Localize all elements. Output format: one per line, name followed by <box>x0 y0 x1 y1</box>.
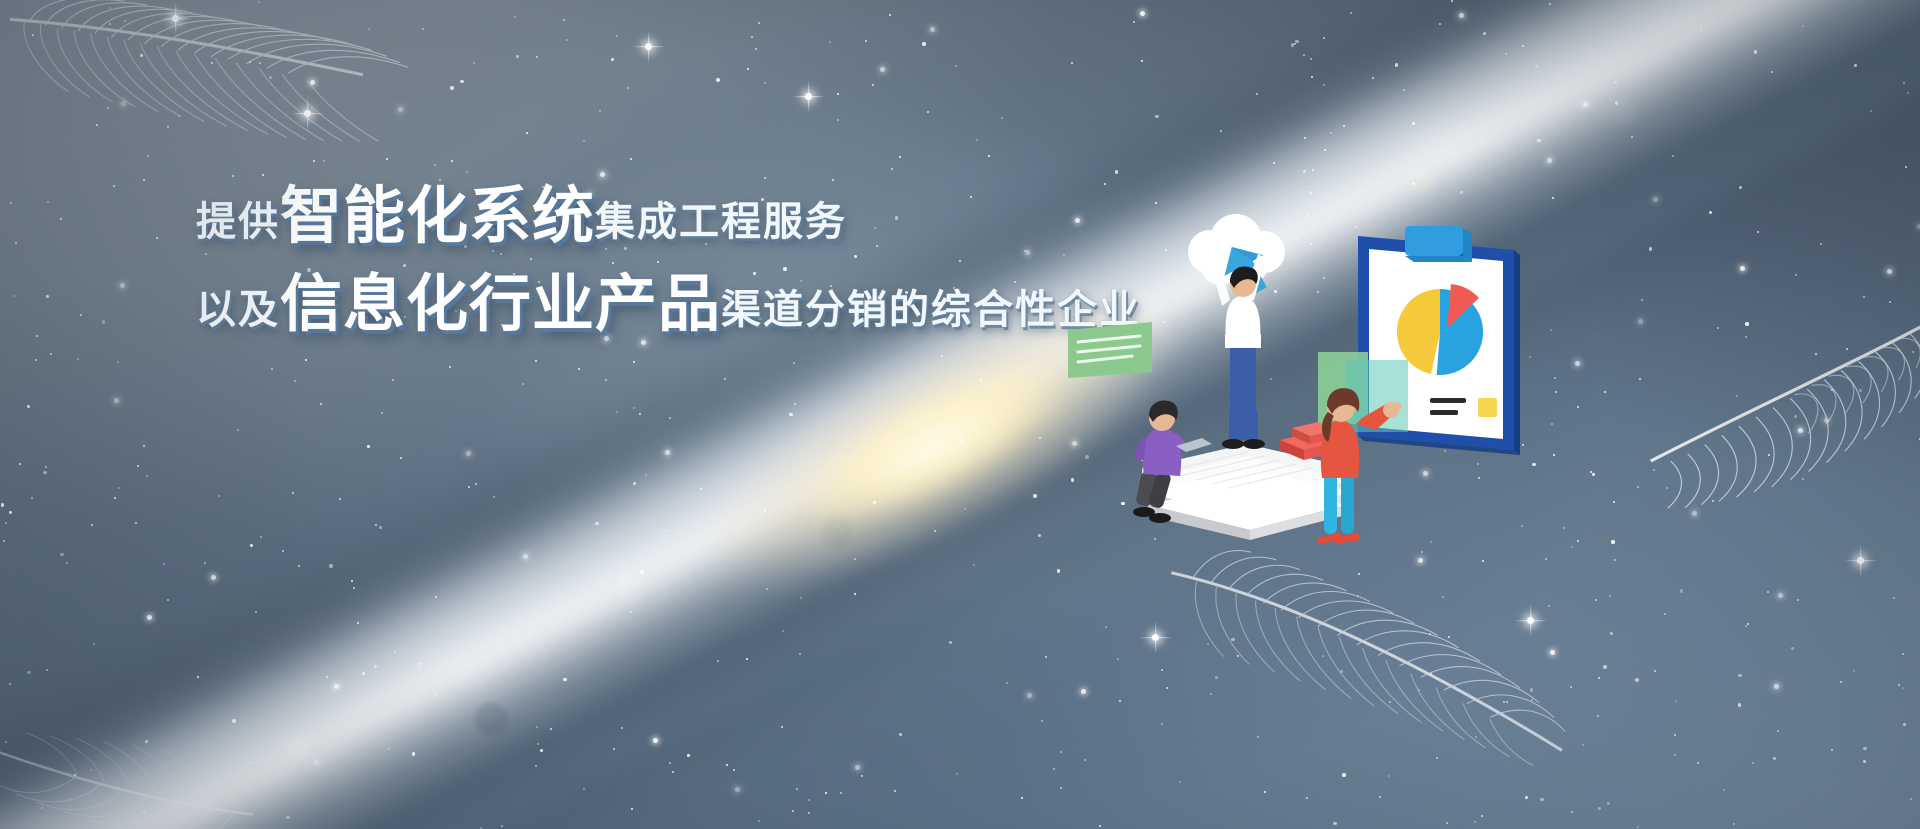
headline-line-1: 提供 智能化系统 集成工程服务 <box>196 186 1196 248</box>
headline-line-1-emphasis: 智能化系统 <box>280 186 595 248</box>
headline-line-2: 以及 信息化行业产品 渠道分销的综合性企业 <box>196 274 1196 336</box>
headline-line-1-prefix: 提供 <box>196 202 280 242</box>
headline-line-2-prefix: 以及 <box>196 290 280 330</box>
headline-line-2-suffix: 渠道分销的综合性企业 <box>721 290 1141 330</box>
person-standing-uploading <box>1214 254 1266 449</box>
headline-line-1-suffix: 集成工程服务 <box>595 202 847 242</box>
business-analytics-illustration <box>1128 222 1548 562</box>
headline-block: 提供 智能化系统 集成工程服务 以及 信息化行业产品 渠道分销的综合性企业 <box>196 186 1196 336</box>
sticky-note-yellow-2 <box>1478 398 1497 417</box>
sky-shading-overlay <box>0 0 1920 829</box>
green-note-card <box>1068 322 1152 378</box>
clipboard-clip <box>1405 226 1472 262</box>
headline-line-2-emphasis: 信息化行业产品 <box>280 274 721 336</box>
hero-banner: 提供 智能化系统 集成工程服务 以及 信息化行业产品 渠道分销的综合性企业 <box>0 0 1920 829</box>
